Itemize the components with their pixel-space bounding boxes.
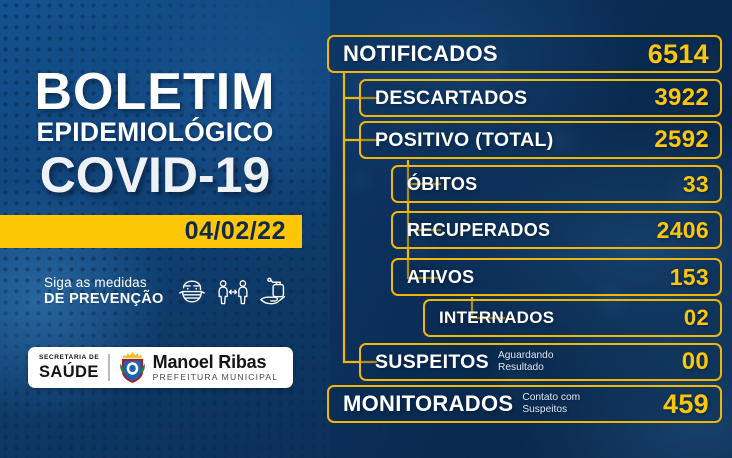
- stat-row-recuperados: RECUPERADOS2406: [391, 211, 722, 249]
- stat-label-positivo: POSITIVO (TOTAL): [375, 129, 554, 152]
- stat-row-suspeitos: SUSPEITOSAguardandoResultado00: [359, 343, 722, 381]
- stat-row-ativos: ATIVOS153: [391, 258, 722, 296]
- stat-label-recuperados: RECUPERADOS: [407, 220, 550, 241]
- stat-label-ativos: ATIVOS: [407, 267, 474, 288]
- stat-label-obitos: ÓBITOS: [407, 174, 477, 195]
- stat-label-internados: INTERNADOS: [439, 308, 554, 328]
- bulletin-canvas: BOLETIM EPIDEMIOLÓGICO COVID-19 04/02/22…: [0, 0, 732, 458]
- stat-value-positivo: 2592: [654, 126, 709, 154]
- stat-value-internados: 02: [684, 305, 709, 331]
- stat-value-suspeitos: 00: [682, 348, 709, 376]
- statistics-tree: NOTIFICADOS6514DESCARTADOS3922POSITIVO (…: [0, 0, 732, 458]
- stat-label-notificados: NOTIFICADOS: [343, 41, 498, 67]
- stat-row-notificados: NOTIFICADOS6514: [327, 35, 722, 73]
- stat-row-descartados: DESCARTADOS3922: [359, 79, 722, 117]
- stat-row-monitorados: MONITORADOSContato comSuspeitos459: [327, 385, 722, 423]
- stat-value-monitorados: 459: [663, 389, 709, 420]
- stat-label-monitorados: MONITORADOS: [343, 391, 513, 417]
- stat-row-internados: INTERNADOS02: [423, 299, 722, 337]
- stat-value-recuperados: 2406: [657, 217, 709, 244]
- stat-sublabel-suspeitos: AguardandoResultado: [498, 350, 554, 373]
- stat-row-positivo: POSITIVO (TOTAL)2592: [359, 121, 722, 159]
- stat-label-suspeitos: SUSPEITOS: [375, 351, 489, 374]
- stat-sublabel-monitorados: Contato comSuspeitos: [522, 392, 580, 415]
- stat-value-notificados: 6514: [648, 39, 709, 70]
- stat-value-obitos: 33: [683, 171, 709, 198]
- stat-row-obitos: ÓBITOS33: [391, 165, 722, 203]
- stat-value-descartados: 3922: [654, 84, 709, 112]
- stat-value-ativos: 153: [670, 264, 709, 291]
- stat-label-descartados: DESCARTADOS: [375, 87, 527, 110]
